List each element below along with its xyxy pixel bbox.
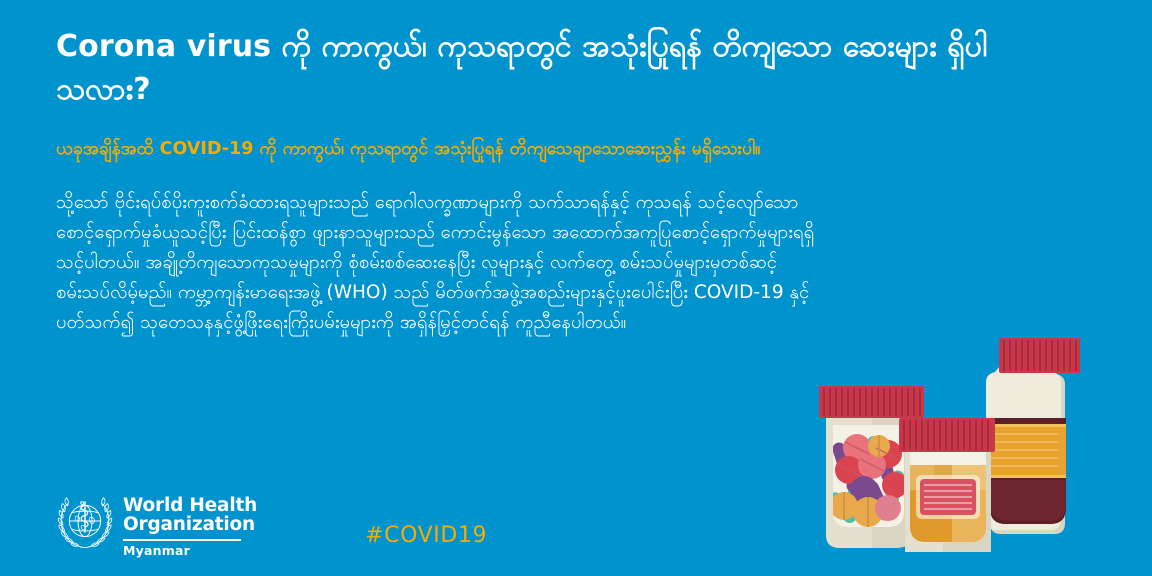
medicine-bottles-illustration <box>800 330 1152 576</box>
page-title: Corona virus ကို ကာကွယ်၊ ကုသရာတွင် အသုံး… <box>56 26 1016 111</box>
who-emblem-icon <box>56 492 114 550</box>
bottle-cap-large <box>999 338 1080 373</box>
body-copy: သို့သော် ဗိုင်းရပ်စ်ပိုးကူးစက်ခံထားရသူမျ… <box>56 188 828 339</box>
who-divider <box>123 539 241 541</box>
poster-canvas: Corona virus ကို ကာကွယ်၊ ကုသရာတွင် အသုံး… <box>0 0 1152 576</box>
who-wordmark: World Health Organization Myanmar <box>123 492 257 558</box>
medicine-bottles-svg <box>800 330 1152 576</box>
pills-group <box>826 434 908 527</box>
pill-jar <box>819 386 924 548</box>
who-logo-line1: World Health <box>123 496 257 516</box>
syrup-bottle-small <box>899 418 995 552</box>
poster-content: Corona virus ကို ကာကွယ်၊ ကုသရာတွင် အသုံး… <box>56 26 1036 338</box>
who-logo-line2: Organization <box>123 515 257 535</box>
syrup-bottle-large <box>984 338 1080 534</box>
bottle-cap-pilljar <box>819 386 924 418</box>
who-country-label: Myanmar <box>123 544 257 558</box>
body-paragraph: သို့သော် ဗိုင်းရပ်စ်ပိုးကူးစက်ခံထားရသူမျ… <box>56 188 828 339</box>
who-logo: World Health Organization Myanmar <box>56 492 257 558</box>
poster-footer: World Health Organization Myanmar #COVID… <box>56 492 487 558</box>
subtitle-answer: ယခုအချိန်အထိ COVID-19 ကို ကာကွယ်၊ ကုသရာတ… <box>56 137 1036 162</box>
hashtag-covid19: #COVID19 <box>365 523 487 558</box>
bottle-cap-small <box>899 418 995 452</box>
